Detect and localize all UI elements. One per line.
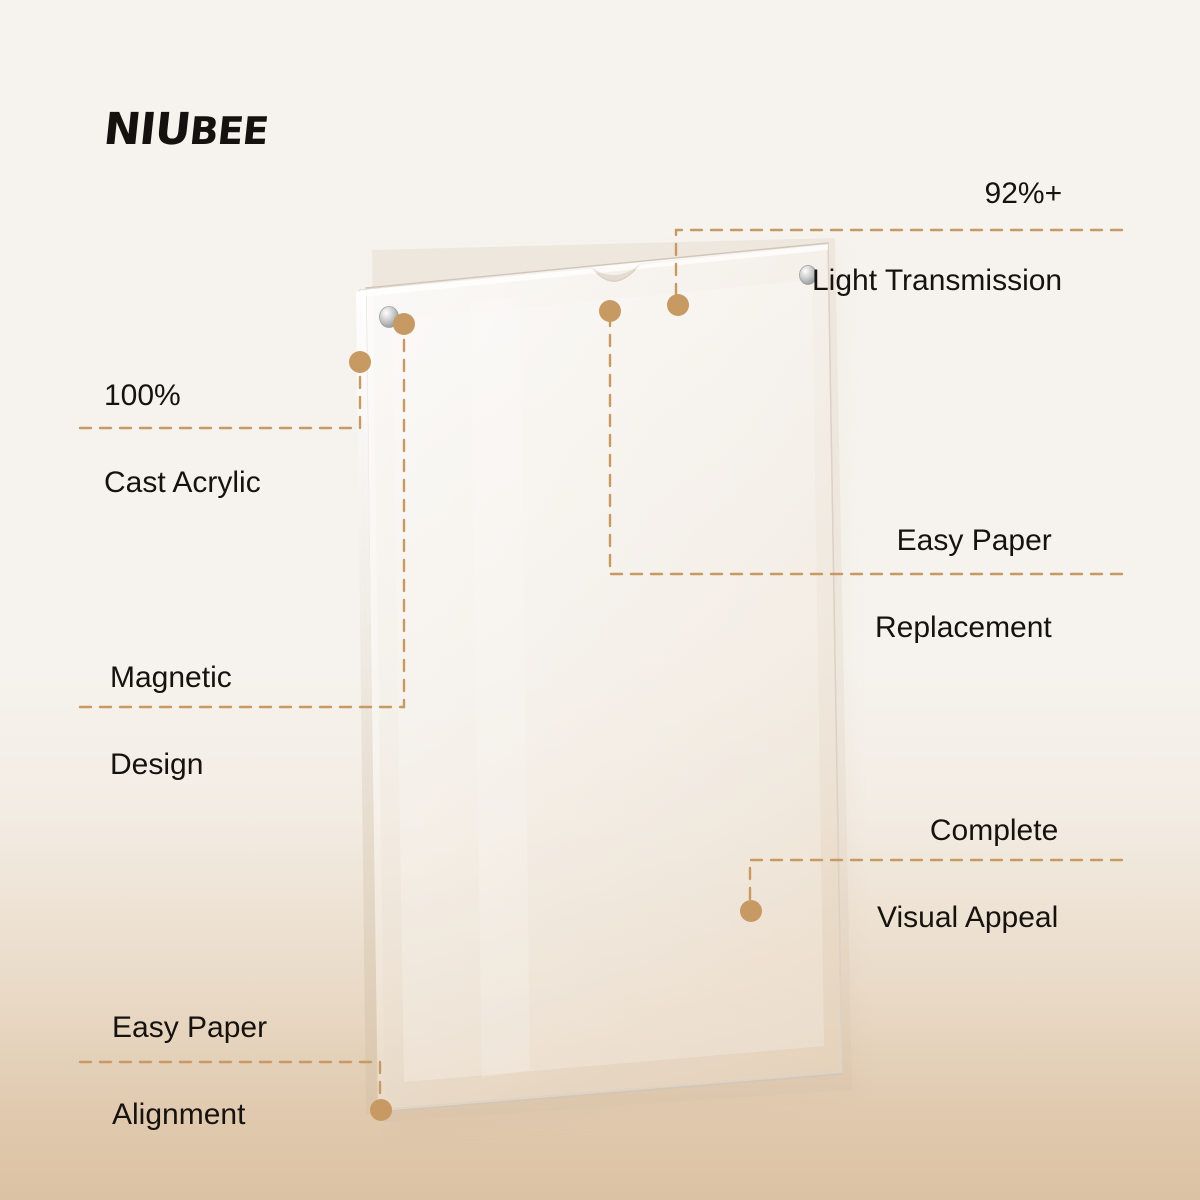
magnet-stud-top-left <box>380 307 399 328</box>
callout-cast-acrylic-line1: 100% <box>104 374 261 418</box>
thumb-notch <box>592 264 640 282</box>
frame-left-edge <box>356 290 378 1114</box>
frame-highlight-streak <box>470 296 530 1078</box>
dot-magnetic-design <box>393 313 415 335</box>
callout-magnetic-design: Magnetic Design <box>110 612 232 830</box>
frame-shadow <box>372 238 852 1122</box>
callout-complete-visual-appeal-line1: Complete <box>877 809 1058 853</box>
paper-insert-area <box>392 280 824 1082</box>
callout-complete-visual-appeal-line2: Visual Appeal <box>877 896 1058 940</box>
callout-cast-acrylic-line2: Cast Acrylic <box>104 461 261 505</box>
brand-logo-part1: NIU <box>101 104 192 155</box>
frame-front-panel <box>360 244 842 1110</box>
leader-dots <box>349 294 762 1121</box>
dot-easy-paper-alignment <box>370 1099 392 1121</box>
dot-complete-visual-appeal <box>740 900 762 922</box>
callout-easy-paper-replacement: Easy Paper Replacement <box>875 475 1052 693</box>
brand-logo-part2: BEE <box>187 109 270 153</box>
dot-easy-paper-replacement <box>599 300 621 322</box>
callout-easy-paper-replacement-line1: Easy Paper <box>875 519 1052 563</box>
frame-top-edge <box>360 244 828 297</box>
callout-easy-paper-replacement-line2: Replacement <box>875 606 1052 650</box>
callout-complete-visual-appeal: Complete Visual Appeal <box>877 765 1058 983</box>
callout-magnetic-design-line1: Magnetic <box>110 656 232 700</box>
callout-easy-paper-alignment-line1: Easy Paper <box>112 1006 267 1050</box>
callout-light-transmission: 92%+ Light Transmission <box>812 128 1062 346</box>
brand-logo: NIUBEE <box>101 104 270 155</box>
callout-easy-paper-alignment-line2: Alignment <box>112 1093 267 1137</box>
dot-cast-acrylic <box>349 351 371 373</box>
product-infographic: NIUBEE 92%+ Light Transmission 100% Cast… <box>0 0 1200 1200</box>
dot-light-transmission <box>667 294 689 316</box>
callout-easy-paper-alignment: Easy Paper Alignment <box>112 962 267 1180</box>
callout-light-transmission-line1: 92%+ <box>812 172 1062 216</box>
frame-back-panel <box>366 243 842 1112</box>
callout-light-transmission-line2: Light Transmission <box>812 259 1062 303</box>
callout-magnetic-design-line2: Design <box>110 743 232 787</box>
callout-cast-acrylic: 100% Cast Acrylic <box>104 330 261 548</box>
